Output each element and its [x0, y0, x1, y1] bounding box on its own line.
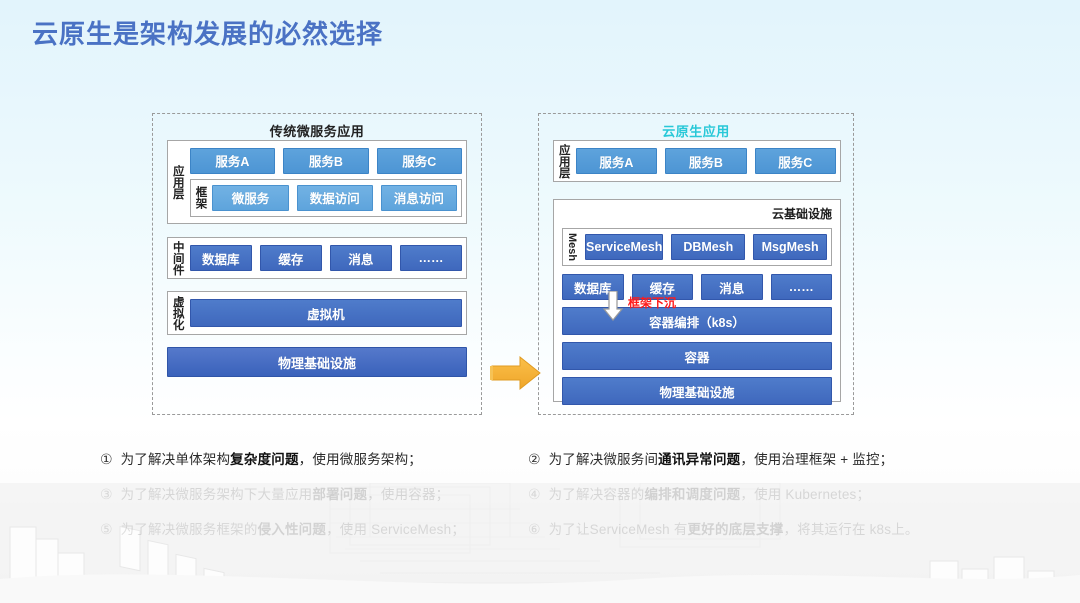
- bullet-number: ⑥: [528, 521, 541, 538]
- traditional-panel-title: 传统微服务应用: [153, 121, 481, 140]
- bullet-number: ①: [100, 451, 113, 468]
- bullet-text: 为了解决微服务框架的侵入性问题，使用 ServiceMesh；: [121, 518, 465, 538]
- transition-arrow-icon: [490, 353, 542, 393]
- cloud-middleware-box-more[interactable]: ……: [771, 274, 833, 300]
- bullet-item: ① 为了解决单体架构复杂度问题，使用微服务架构；: [100, 448, 520, 483]
- bullet-item: ④ 为了解决容器的编排和调度问题，使用 Kubernetes；: [528, 483, 968, 518]
- service-box-b[interactable]: 服务B: [283, 148, 368, 174]
- middleware-box-more[interactable]: ……: [400, 245, 462, 271]
- cloud-service-box-b[interactable]: 服务B: [665, 148, 746, 174]
- cloud-infrastructure-label: 云基础设施: [772, 205, 832, 222]
- architecture-diagram: 传统微服务应用 应用层 服务A 服务B 服务C 框架 微服务 数据访问 消息访问: [0, 105, 1080, 425]
- msg-mesh-box[interactable]: MsgMesh: [753, 234, 827, 260]
- cloud-infrastructure-row: 物理基础设施: [562, 377, 832, 405]
- cloud-middleware-box-message[interactable]: 消息: [701, 274, 763, 300]
- framework-sink-down-arrow-icon: [602, 291, 624, 321]
- bullet-text: 为了让ServiceMesh 有更好的底层支撑，将其运行在 k8s上。: [549, 518, 919, 538]
- bullet-item: ⑥ 为了让ServiceMesh 有更好的底层支撑，将其运行在 k8s上。: [528, 518, 968, 553]
- cloud-native-panel-title: 云原生应用: [539, 121, 853, 140]
- bullet-number: ④: [528, 486, 541, 503]
- right-app-layer-group: 应用层 服务A 服务B 服务C: [553, 140, 841, 182]
- left-app-layer-group: 应用层 服务A 服务B 服务C 框架 微服务 数据访问 消息访问: [167, 140, 467, 224]
- mesh-label: Mesh: [563, 233, 581, 261]
- traditional-microservice-panel: 传统微服务应用 应用层 服务A 服务B 服务C 框架 微服务 数据访问 消息访问: [152, 113, 482, 415]
- left-virtualization-group: 虚拟化 虚拟机: [167, 291, 467, 335]
- left-framework-items: 微服务 数据访问 消息访问: [208, 180, 461, 216]
- left-virtualization-items: 虚拟机: [186, 292, 466, 334]
- bullet-column-right: ② 为了解决微服务间通讯异常问题，使用治理框架 + 监控； ④ 为了解决容器的编…: [528, 448, 968, 553]
- bullet-item: ③ 为了解决微服务架构下大量应用部署问题，使用容器；: [100, 483, 520, 518]
- framework-sink-label: 框架下沉: [628, 294, 676, 311]
- cloud-service-box-a[interactable]: 服务A: [576, 148, 657, 174]
- bullet-number: ②: [528, 451, 541, 468]
- left-middleware-label: 中间件: [168, 241, 186, 276]
- middleware-box-database[interactable]: 数据库: [190, 245, 252, 271]
- service-box-a[interactable]: 服务A: [190, 148, 275, 174]
- framework-box-data-access[interactable]: 数据访问: [297, 185, 373, 211]
- bullet-text: 为了解决容器的编排和调度问题，使用 Kubernetes；: [549, 483, 871, 503]
- bullet-item: ⑤ 为了解决微服务框架的侵入性问题，使用 ServiceMesh；: [100, 518, 520, 553]
- framework-box-message-access[interactable]: 消息访问: [381, 185, 457, 211]
- cloud-infrastructure-group: 云基础设施 Mesh ServiceMesh DBMesh MsgMesh 数据…: [553, 199, 841, 402]
- page-title: 云原生是架构发展的必然选择: [32, 14, 383, 51]
- container-row: 容器: [562, 342, 832, 370]
- left-app-layer-content: 服务A 服务B 服务C 框架 微服务 数据访问 消息访问: [186, 141, 466, 223]
- cloud-service-box-c[interactable]: 服务C: [755, 148, 836, 174]
- mesh-group: Mesh ServiceMesh DBMesh MsgMesh: [562, 228, 832, 266]
- container-box[interactable]: 容器: [562, 342, 832, 370]
- left-infrastructure-row: 物理基础设施: [167, 347, 467, 377]
- left-middleware-group: 中间件 数据库 缓存 消息 ……: [167, 237, 467, 279]
- bullet-item: ② 为了解决微服务间通讯异常问题，使用治理框架 + 监控；: [528, 448, 968, 483]
- middleware-box-message[interactable]: 消息: [330, 245, 392, 271]
- bullet-text: 为了解决微服务间通讯异常问题，使用治理框架 + 监控；: [549, 448, 894, 468]
- service-mesh-box[interactable]: ServiceMesh: [585, 234, 663, 260]
- left-middleware-items: 数据库 缓存 消息 ……: [186, 238, 466, 278]
- left-framework-label: 框架: [191, 186, 209, 209]
- db-mesh-box[interactable]: DBMesh: [671, 234, 745, 260]
- right-app-layer-label: 应用层: [554, 144, 572, 179]
- middleware-box-cache[interactable]: 缓存: [260, 245, 322, 271]
- left-framework-group: 框架 微服务 数据访问 消息访问: [190, 179, 462, 217]
- bullet-number: ③: [100, 486, 113, 503]
- left-virtualization-label: 虚拟化: [168, 296, 186, 331]
- cloud-physical-infrastructure-box[interactable]: 物理基础设施: [562, 377, 832, 405]
- mesh-items: ServiceMesh DBMesh MsgMesh: [581, 229, 831, 265]
- bullet-number: ⑤: [100, 521, 113, 538]
- right-services-row: 服务A 服务B 服务C: [572, 141, 840, 181]
- virtual-machine-box[interactable]: 虚拟机: [190, 299, 462, 327]
- bullet-text: 为了解决单体架构复杂度问题，使用微服务架构；: [121, 448, 422, 468]
- left-app-layer-label: 应用层: [168, 165, 186, 200]
- framework-box-microservice[interactable]: 微服务: [212, 185, 288, 211]
- physical-infrastructure-box[interactable]: 物理基础设施: [167, 347, 467, 377]
- cloud-native-panel: 云原生应用 应用层 服务A 服务B 服务C 云基础设施 Mesh Service…: [538, 113, 854, 415]
- service-box-c[interactable]: 服务C: [377, 148, 462, 174]
- bullet-column-left: ① 为了解决单体架构复杂度问题，使用微服务架构； ③ 为了解决微服务架构下大量应…: [100, 448, 520, 553]
- bullet-notes: ① 为了解决单体架构复杂度问题，使用微服务架构； ③ 为了解决微服务架构下大量应…: [0, 448, 1080, 558]
- left-services-row: 服务A 服务B 服务C: [190, 148, 462, 174]
- bullet-text: 为了解决微服务架构下大量应用部署问题，使用容器；: [121, 483, 450, 503]
